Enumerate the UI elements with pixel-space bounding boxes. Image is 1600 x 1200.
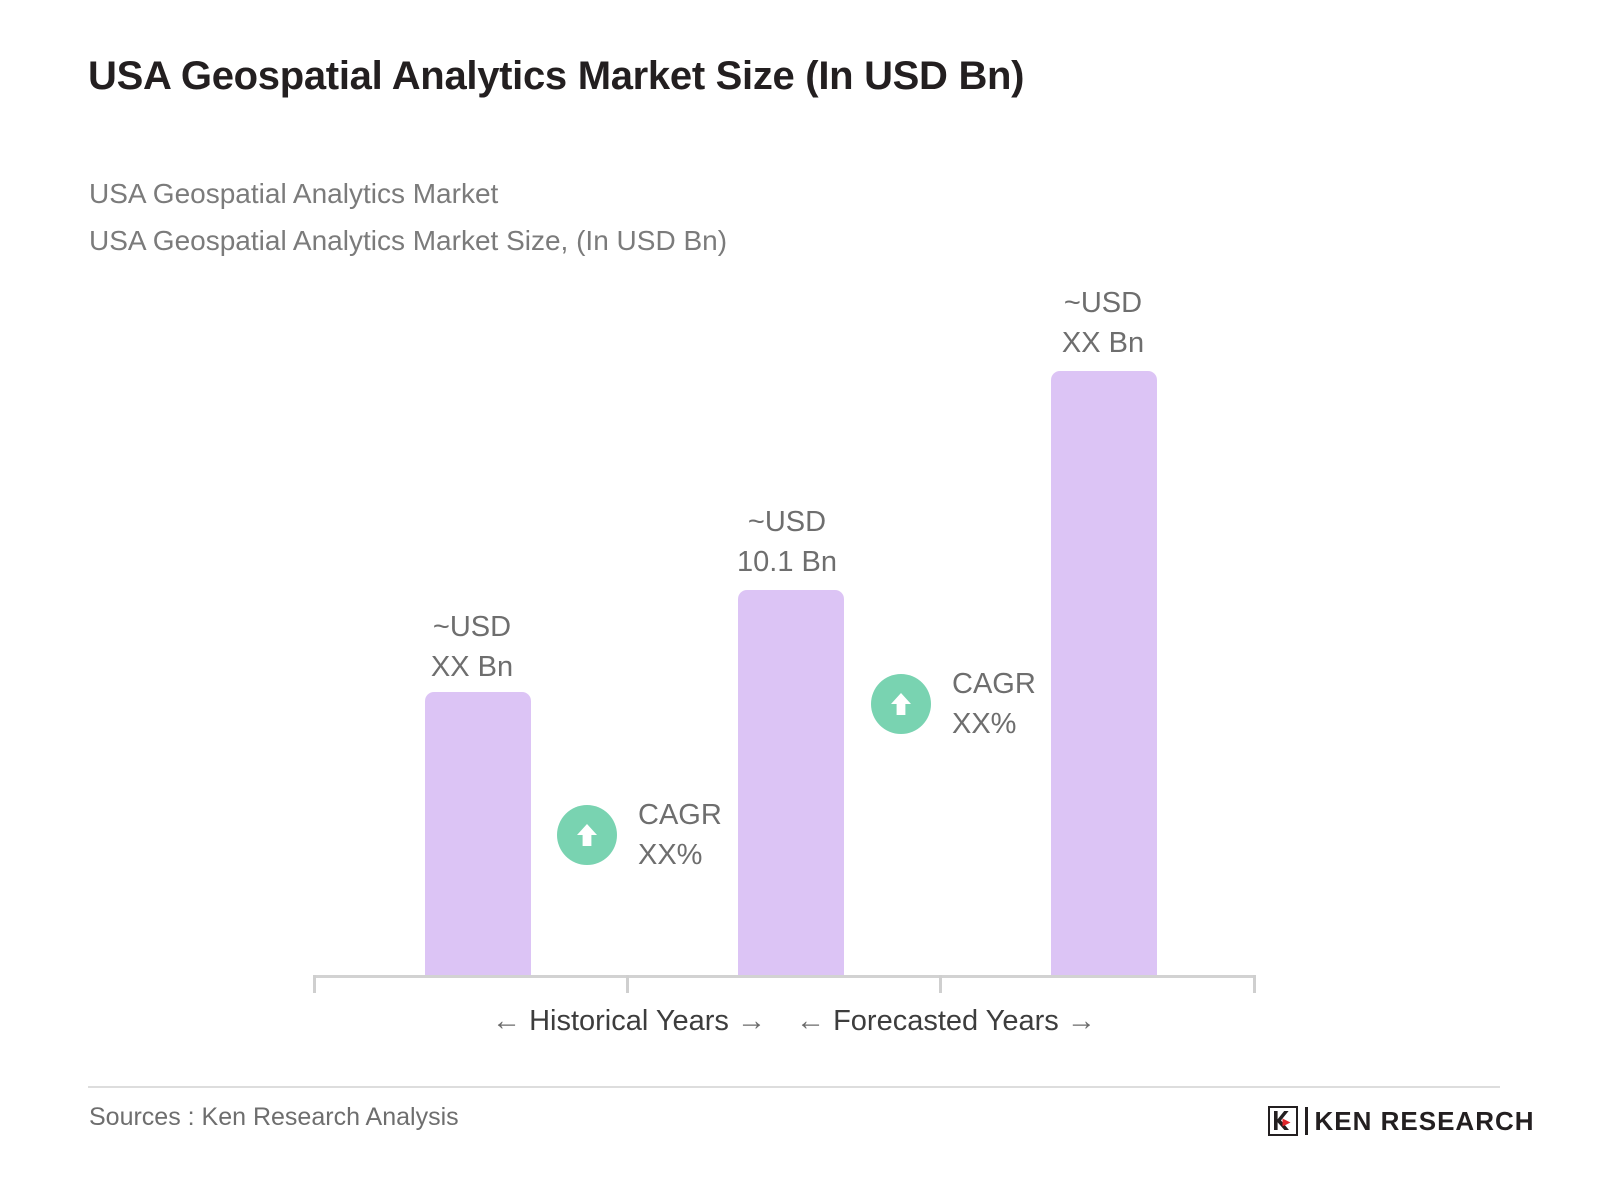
- bar-label-3-line-2: XX Bn: [1003, 323, 1203, 363]
- logo-k-mark-icon: [1268, 1106, 1298, 1136]
- bar-label-1-line-2: XX Bn: [372, 647, 572, 687]
- axis-tick-start: [313, 975, 316, 993]
- up-arrow-icon: [557, 805, 617, 865]
- bar-value-label-1: ~USD XX Bn: [372, 607, 572, 687]
- cagr-label-2: CAGR: [952, 664, 1036, 704]
- right-arrow-icon: →: [737, 1005, 766, 1037]
- cagr-value-2: XX%: [952, 704, 1036, 744]
- cagr-annotation-2: CAGR XX%: [871, 664, 1036, 744]
- cagr-annotation-2-text: CAGR XX%: [952, 664, 1036, 744]
- bar-3[interactable]: [1051, 371, 1157, 976]
- bar-label-3-line-1: ~USD: [1003, 283, 1203, 323]
- axis-tick-mid-1: [626, 975, 629, 993]
- up-arrow-icon: [871, 674, 931, 734]
- axis-range-forecasted-label: Forecasted Years: [833, 1005, 1059, 1037]
- logo-divider: [1305, 1107, 1308, 1135]
- ken-research-logo: KEN RESEARCH: [1268, 1105, 1535, 1137]
- right-arrow-icon: →: [1067, 1005, 1096, 1037]
- bar-2[interactable]: [738, 590, 844, 976]
- bar-chart-plot-area: ~USD XX Bn CAGR XX% ~USD 10.1 Bn CAGR XX…: [0, 0, 1600, 1200]
- footer-divider: [88, 1086, 1500, 1088]
- cagr-annotation-1-text: CAGR XX%: [638, 795, 722, 875]
- bar-value-label-3: ~USD XX Bn: [1003, 283, 1203, 363]
- left-arrow-icon: ←: [492, 1005, 521, 1037]
- cagr-value-1: XX%: [638, 835, 722, 875]
- cagr-label-1: CAGR: [638, 795, 722, 835]
- left-arrow-icon: ←: [796, 1005, 825, 1037]
- axis-range-forecasted: ← Forecasted Years →: [796, 1005, 1096, 1038]
- axis-tick-mid-2: [939, 975, 942, 993]
- x-axis-line: [313, 975, 1256, 978]
- bar-label-2-line-2: 10.1 Bn: [687, 542, 887, 582]
- bar-1[interactable]: [425, 692, 531, 976]
- axis-range-historical-label: Historical Years: [529, 1005, 729, 1037]
- axis-tick-end: [1253, 975, 1256, 993]
- sources-text: Sources : Ken Research Analysis: [89, 1103, 459, 1132]
- bar-value-label-2: ~USD 10.1 Bn: [687, 502, 887, 582]
- brand-name: KEN RESEARCH: [1315, 1106, 1535, 1137]
- cagr-annotation-1: CAGR XX%: [557, 795, 722, 875]
- bar-label-2-line-1: ~USD: [687, 502, 887, 542]
- axis-range-historical: ← Historical Years →: [492, 1005, 766, 1038]
- bar-label-1-line-1: ~USD: [372, 607, 572, 647]
